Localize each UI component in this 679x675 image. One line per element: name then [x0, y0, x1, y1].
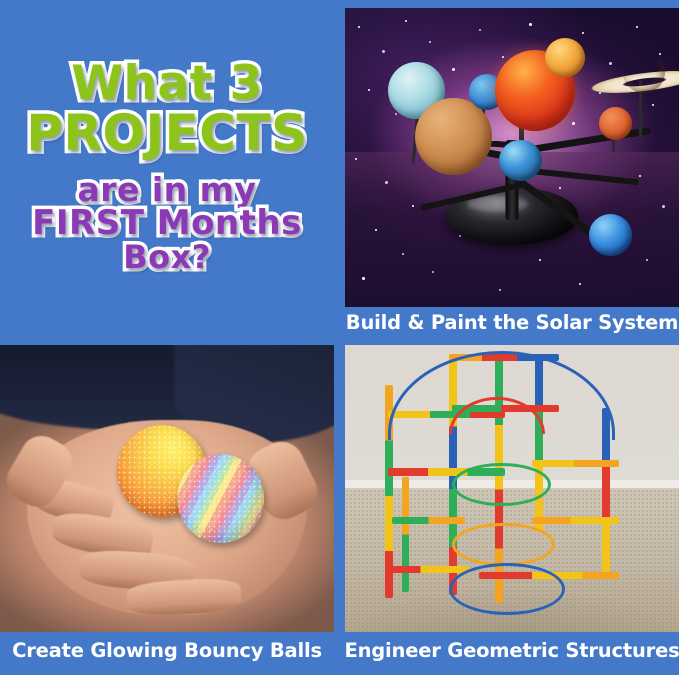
planet-saturn-group	[609, 50, 679, 110]
rod-vertical-6	[402, 477, 409, 592]
ring-mid	[452, 463, 552, 506]
rod-horizontal-7	[532, 517, 619, 524]
planet-earth-center	[499, 140, 542, 182]
planet-jupiter-large	[415, 98, 492, 176]
headline-line-1: What 3	[71, 61, 263, 107]
planet-venus	[545, 38, 585, 77]
rainbow-bouncy-ball	[177, 454, 264, 543]
caption-bouncy-balls: Create Glowing Bouncy Balls	[0, 632, 334, 668]
headline-line-2: PROJECTS	[26, 109, 307, 158]
rod-horizontal-4	[388, 566, 468, 573]
caption-geometric-structures: Engineer Geometric Structures	[345, 632, 679, 668]
headline-line-5: Box?	[123, 242, 211, 273]
bouncy-balls-photo	[0, 345, 334, 632]
rod-horizontal-6	[532, 460, 619, 467]
title-panel: What 3 PROJECTS are in my FIRST Months B…	[0, 0, 334, 334]
rod-horizontal-3	[392, 517, 465, 524]
ball-texture-rainbow	[177, 454, 264, 543]
ring-bottom	[449, 563, 565, 615]
geometric-structures-photo	[345, 345, 679, 632]
caption-solar-system: Build & Paint the Solar System	[345, 307, 679, 337]
headline-line-3: are in my	[77, 174, 256, 206]
planet-neptune	[589, 214, 632, 256]
ring-lower	[452, 523, 555, 566]
planet-mercury	[599, 107, 632, 140]
poster-root: What 3 PROJECTS are in my FIRST Months B…	[0, 0, 679, 675]
saturn-body	[623, 52, 665, 93]
solar-system-photo	[345, 8, 679, 307]
headline-text-block: What 3 PROJECTS are in my FIRST Months B…	[0, 0, 334, 334]
headline-line-4: FIRST Months	[32, 207, 302, 240]
